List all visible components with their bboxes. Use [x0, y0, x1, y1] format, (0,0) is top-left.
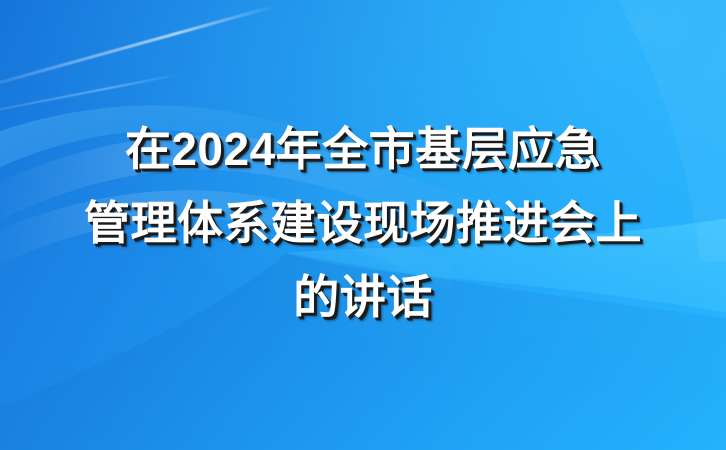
- title-line-1: 在2024年全市基层应急: [22, 112, 704, 186]
- title-line-2: 管理体系建设现场推进会上: [22, 186, 704, 260]
- title-line-3: 的讲话: [22, 260, 704, 334]
- title-card-poster: 在2024年全市基层应急 管理体系建设现场推进会上 的讲话: [0, 0, 726, 450]
- page-title: 在2024年全市基层应急 管理体系建设现场推进会上 的讲话: [0, 112, 726, 334]
